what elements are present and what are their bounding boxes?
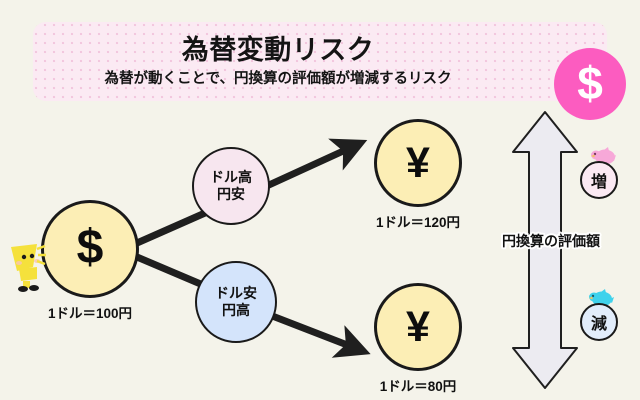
yellow-character-icon — [7, 241, 49, 293]
branch-label-yen-weak: ドル高 円安 — [192, 147, 270, 225]
yen-coin-high: ¥ — [374, 119, 462, 207]
connector-up-upper — [258, 147, 352, 190]
yen-coin-high-caption: 1ドル＝120円 — [338, 211, 498, 231]
connector-up-lower — [137, 213, 205, 243]
branch-label-line2: 円安 — [217, 186, 245, 204]
usd-coin-symbol: $ — [77, 224, 104, 272]
usd-coin-caption: 1ドル＝100円 — [10, 302, 170, 322]
yen-coin-symbol: ¥ — [406, 306, 430, 349]
status-badge-decrease: 減 — [580, 303, 618, 341]
status-badge-increase: 増 — [580, 161, 618, 199]
usd-coin: $ — [41, 200, 139, 298]
branch-label-line1: ドル安 — [215, 285, 257, 303]
yen-coin-low: ¥ — [374, 283, 462, 371]
scale-axis-label: 円換算の評価額 — [489, 231, 613, 251]
branch-label-yen-strong: ドル安 円高 — [195, 261, 277, 343]
branch-label-line2: 円高 — [222, 302, 250, 320]
connector-down-lower — [262, 312, 355, 348]
yen-coin-low-caption: 1ドル＝80円 — [338, 375, 498, 395]
infographic-canvas: 為替変動リスク 為替が動くことで、円換算の評価額が増減するリスク $ $ 1ドル… — [0, 0, 640, 400]
branch-label-line1: ドル高 — [210, 169, 252, 187]
yen-coin-symbol: ¥ — [406, 142, 430, 185]
